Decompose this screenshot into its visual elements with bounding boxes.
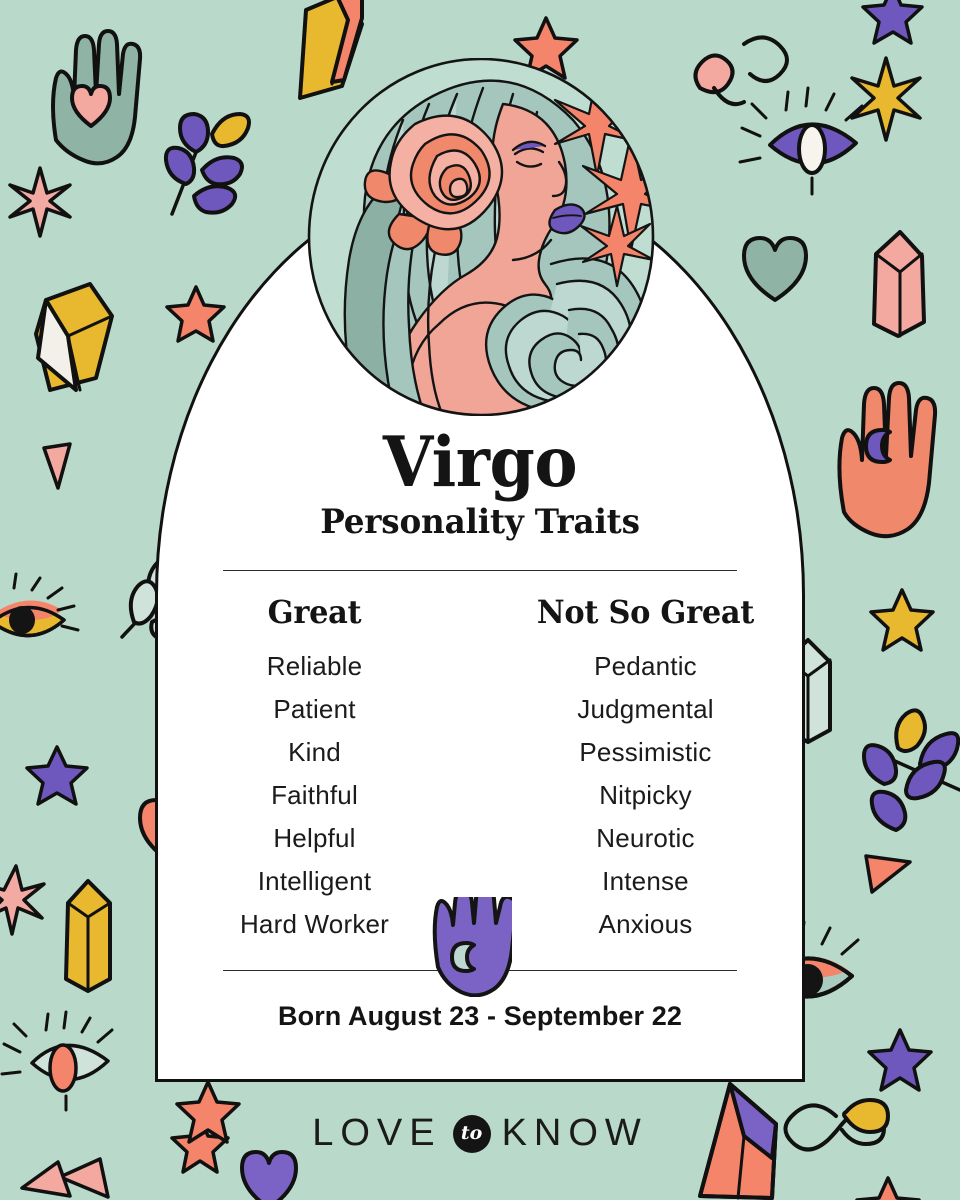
list-item: Reliable: [155, 645, 474, 688]
list-item: Patient: [155, 688, 474, 731]
poster: Virgo Personality Traits Great Reliable …: [0, 0, 960, 1200]
list-item: Pedantic: [486, 645, 805, 688]
page-title: Virgo: [175, 430, 786, 496]
page-subtitle: Personality Traits: [168, 504, 792, 541]
star-purple-top-icon: [863, 0, 922, 43]
logo-to-badge: to: [453, 1115, 491, 1153]
list-item: Judgmental: [486, 688, 805, 731]
traits-column-not-so-great: Not So Great Pedantic Judgmental Pessimi…: [480, 593, 805, 946]
teardrop-loop-icon: [695, 37, 787, 104]
crystal-pink-icon: [874, 232, 924, 336]
list-item: Pessimistic: [486, 731, 805, 774]
crystal-yellow-lower-icon: [66, 881, 110, 991]
title-block: Virgo Personality Traits: [155, 430, 805, 541]
logo-word-know: KNOW: [502, 1112, 648, 1155]
crystal-icon: [36, 284, 112, 390]
list-item: Intelligent: [155, 860, 474, 903]
list-item: Anxious: [486, 903, 805, 946]
born-date-text: Born August 23 - September 22: [155, 1001, 805, 1032]
hand-moon-purple-icon: [430, 897, 512, 997]
traits-list-great: Reliable Patient Kind Faithful Helpful I…: [155, 645, 474, 946]
sparkle-gold-icon: [852, 58, 920, 140]
divider-top: [223, 570, 737, 571]
sparkle-burst-icon: [0, 866, 44, 934]
lovetoknow-logo[interactable]: LOVE to KNOW: [0, 1112, 960, 1155]
list-item: Intense: [486, 860, 805, 903]
teardrop-icon: [44, 444, 70, 488]
column-heading-not-so-great: Not So Great: [494, 593, 797, 631]
list-item: Kind: [155, 731, 474, 774]
hand-moon-icon: [839, 383, 935, 536]
traits-column-great: Great Reliable Patient Kind Faithful Hel…: [155, 593, 480, 946]
star-coral-lower-icon: [857, 1178, 919, 1200]
hand-heart-icon: [53, 31, 140, 163]
list-item: Faithful: [155, 774, 474, 817]
triangle-pale-icon: [22, 1162, 70, 1196]
eye-sage-icon: [2, 1012, 112, 1110]
list-item: Hard Worker: [155, 903, 474, 946]
sparkle-star-icon: [10, 168, 70, 236]
list-item: Neurotic: [486, 817, 805, 860]
traits-list-not-so-great: Pedantic Judgmental Pessimistic Nitpicky…: [486, 645, 805, 946]
traits-columns: Great Reliable Patient Kind Faithful Hel…: [155, 593, 805, 946]
star-purple-icon: [27, 747, 87, 804]
triangle-icon: [866, 856, 910, 892]
star-gold-right-icon: [871, 590, 933, 650]
list-item: Nitpicky: [486, 774, 805, 817]
eye-gold-icon: [0, 574, 78, 636]
logo-word-love: LOVE: [312, 1112, 441, 1155]
list-item: Helpful: [155, 817, 474, 860]
column-heading-great: Great: [163, 593, 466, 631]
star-purple-bottom-icon: [869, 1030, 931, 1090]
leaf-sprig-right-icon: [864, 710, 960, 830]
heart-purple-icon: [242, 1152, 296, 1200]
